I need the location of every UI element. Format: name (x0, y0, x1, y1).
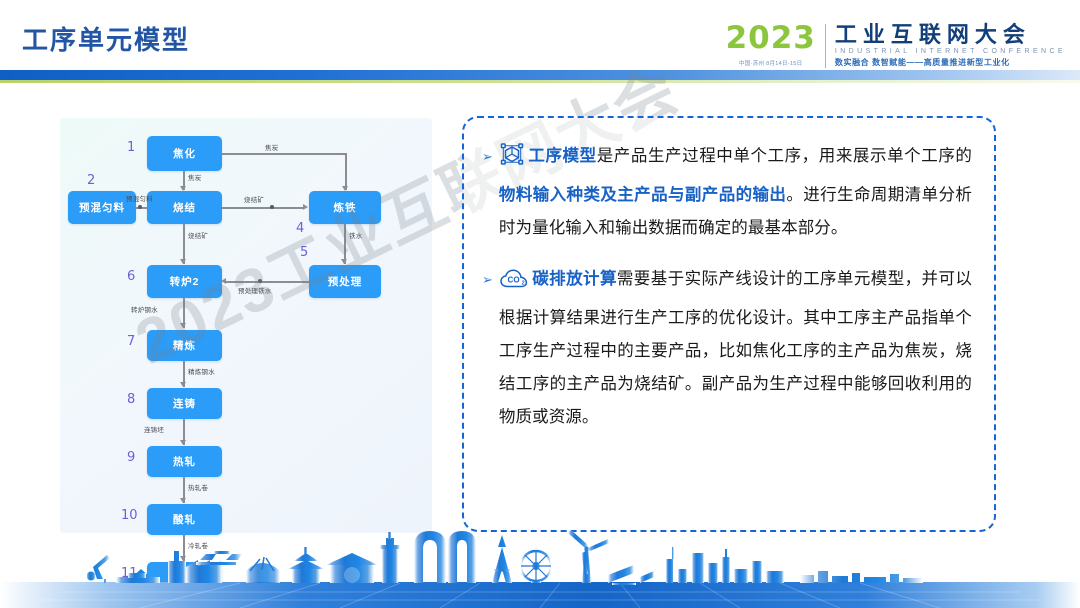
edge-bof-to-refine-arrow (180, 323, 186, 328)
node-number-7: 7 (127, 334, 135, 349)
edge-sinter-to-iron-dot (270, 205, 274, 209)
edge-sinter-to-iron-arrow (303, 204, 308, 210)
svg-text:2: 2 (522, 280, 525, 286)
description-panel: ➢ 工序模型是产品生产过程中单个工序，用来展示 (462, 116, 996, 532)
logo-name-cn: 工业互联网大会 (835, 23, 1066, 46)
edge-pretreat-to-bof (226, 281, 309, 283)
edge-pretreat-dot (258, 279, 262, 283)
edge-label-coke-to-iron: 焦炭 (265, 142, 278, 152)
node-sintering[interactable]: 烧结 (147, 191, 222, 224)
edge-label-coke-to-sinter: 焦炭 (188, 172, 201, 182)
co2-cloud-icon: CO 2 (499, 268, 529, 302)
edge-premix-dot (138, 205, 142, 209)
edge-coke-to-iron-h (222, 153, 346, 155)
header-gradient-bar (0, 70, 1080, 80)
edge-label-premix-to-sinter: 预混匀料 (126, 193, 153, 203)
logo-name-en: INDUSTRIAL INTERNET CONFERENCE (835, 48, 1066, 55)
header-green-line (0, 80, 1080, 83)
logo-name-block: 工业互联网大会 INDUSTRIAL INTERNET CONFERENCE 数… (835, 22, 1066, 68)
node-number-1: 1 (127, 140, 135, 155)
slide-root: 工序单元模型 2023 中国·苏州 8月14日-15日 工业互联网大会 INDU… (0, 0, 1080, 608)
paragraph-1-highlight-2: 物料输入种类及主产品与副产品的输出 (499, 186, 786, 204)
node-number-9: 9 (127, 450, 135, 465)
page-title: 工序单元模型 (22, 20, 190, 57)
paragraph-2-text-1: 需要基于实际产线设计的工序单元模型，并可以根据计算结果进行生产工序的优化设计。其… (499, 270, 972, 426)
edge-coke-to-iron-v (345, 153, 347, 190)
bullet-item-1: ➢ 工序模型是产品生产过程中单个工序，用来展示 (482, 140, 972, 245)
logo-year: 2023 (726, 23, 816, 54)
svg-text:CO: CO (507, 276, 519, 285)
node-continuous-casting[interactable]: 连铸 (147, 388, 222, 419)
edge-label-iron-to-pretreat: 铁水 (349, 230, 362, 240)
logo-divider (825, 24, 826, 68)
node-refining[interactable]: 精炼 (147, 330, 222, 361)
logo-year-block: 2023 中国·苏州 8月14日-15日 (726, 22, 816, 67)
node-number-5: 5 (300, 245, 308, 260)
edge-iron-to-pretreat-v (344, 224, 346, 264)
node-coking[interactable]: 焦化 (147, 136, 222, 171)
node-number-4: 4 (296, 221, 304, 236)
node-ironmaking[interactable]: 炼铁 (309, 191, 381, 224)
edge-label-pretreat-to-bof: 预处理铁水 (238, 285, 272, 295)
edge-label-sinter-to-iron: 烧结矿 (244, 194, 264, 204)
node-pretreatment[interactable]: 预处理 (309, 265, 381, 298)
edge-cast-to-hot-arrow (180, 440, 186, 445)
edge-label-bof-to-refine: 转炉钢水 (131, 304, 158, 314)
edge-label-sinter-to-bof: 烧结矿 (188, 230, 208, 240)
node-number-10: 10 (121, 508, 138, 523)
edge-label-hot-to-acid: 热轧卷 (188, 482, 208, 492)
node-number-2: 2 (87, 173, 95, 188)
paragraph-2-highlight-1: 碳排放计算 (532, 270, 617, 288)
cube-model-icon (499, 141, 525, 179)
node-converter2[interactable]: 转炉2 (147, 265, 222, 298)
node-hot-rolling[interactable]: 热轧 (147, 446, 222, 477)
logo-date-location: 中国·苏州 8月14日-15日 (726, 59, 816, 67)
paragraph-1: 工序模型是产品生产过程中单个工序，用来展示单个工序的物料输入种类及主产品与副产品… (499, 140, 972, 245)
edge-hot-to-acid-arrow (180, 498, 186, 503)
edge-refine-to-cast-arrow (180, 382, 186, 387)
logo-tagline: 数实融合 数智赋能——高质量推进新型工业化 (835, 57, 1066, 68)
edge-sinter-to-bof-arrow (180, 259, 186, 264)
flowchart-panel: 1 焦化 焦炭 焦炭 2 预混匀料 3 烧结 4 炼铁 预混匀料 烧结矿 烧结矿 (60, 118, 432, 533)
paragraph-1-text-1: 是产品生产过程中单个工序，用来展示单个工序的 (597, 147, 972, 165)
node-number-8: 8 (127, 392, 135, 407)
node-number-6: 6 (127, 269, 135, 284)
bullet-marker-icon: ➢ (482, 140, 493, 245)
conference-logo: 2023 中国·苏州 8月14日-15日 工业互联网大会 INDUSTRIAL … (726, 22, 1066, 68)
paragraph-2: CO 2 碳排放计算需要基于实际产线设计的工序单元模型，并可以根据计算结果进行生… (499, 263, 972, 434)
paragraph-1-highlight-1: 工序模型 (528, 147, 597, 165)
edge-label-cast-to-hot: 连铸坯 (144, 424, 164, 434)
edge-pretreat-to-bof-arrow (221, 278, 226, 284)
footer-skyline (0, 530, 1080, 608)
edge-iron-to-pretreat-arrow (341, 259, 347, 264)
edge-sinter-to-iron (222, 207, 303, 209)
edge-label-refine-to-cast: 精炼钢水 (188, 366, 215, 376)
bullet-item-2: ➢ CO 2 碳排放计算需要基于实际产线设计的工序单元模型，并可以根据计算结果进… (482, 263, 972, 434)
bullet-marker-icon-2: ➢ (482, 263, 493, 434)
edge-sinter-to-bof-v (183, 224, 185, 264)
